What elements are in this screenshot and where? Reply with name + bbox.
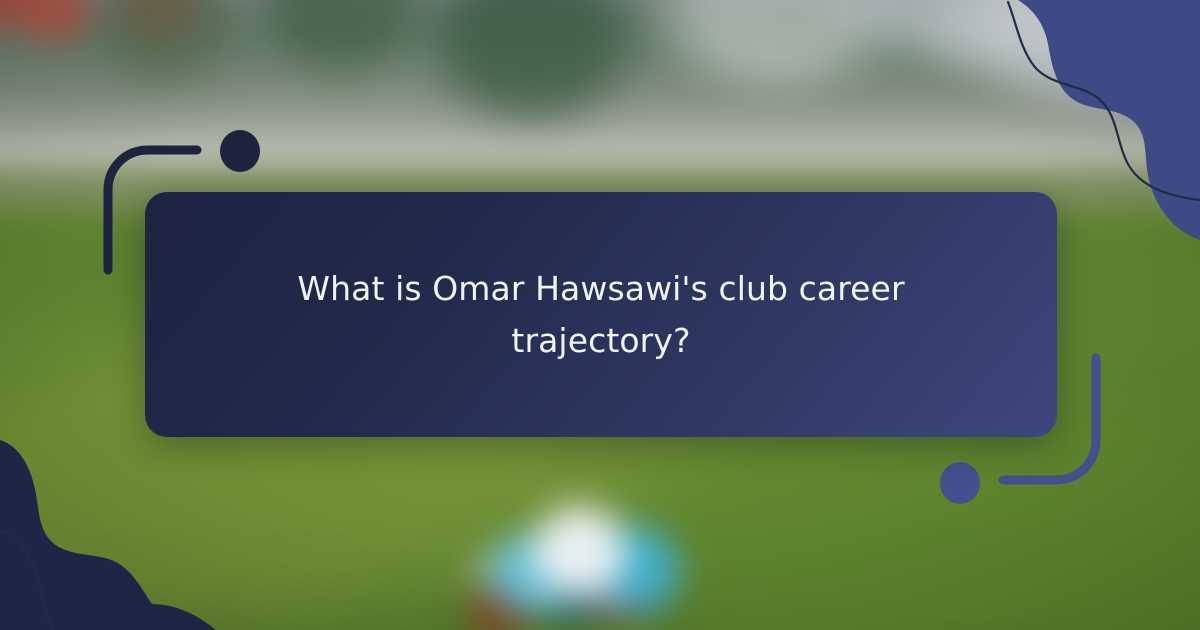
question-text: What is Omar Hawsawi's club career traje… bbox=[251, 263, 951, 366]
question-card: What is Omar Hawsawi's club career traje… bbox=[145, 192, 1057, 437]
share-card-canvas: What is Omar Hawsawi's club career traje… bbox=[0, 0, 1200, 630]
